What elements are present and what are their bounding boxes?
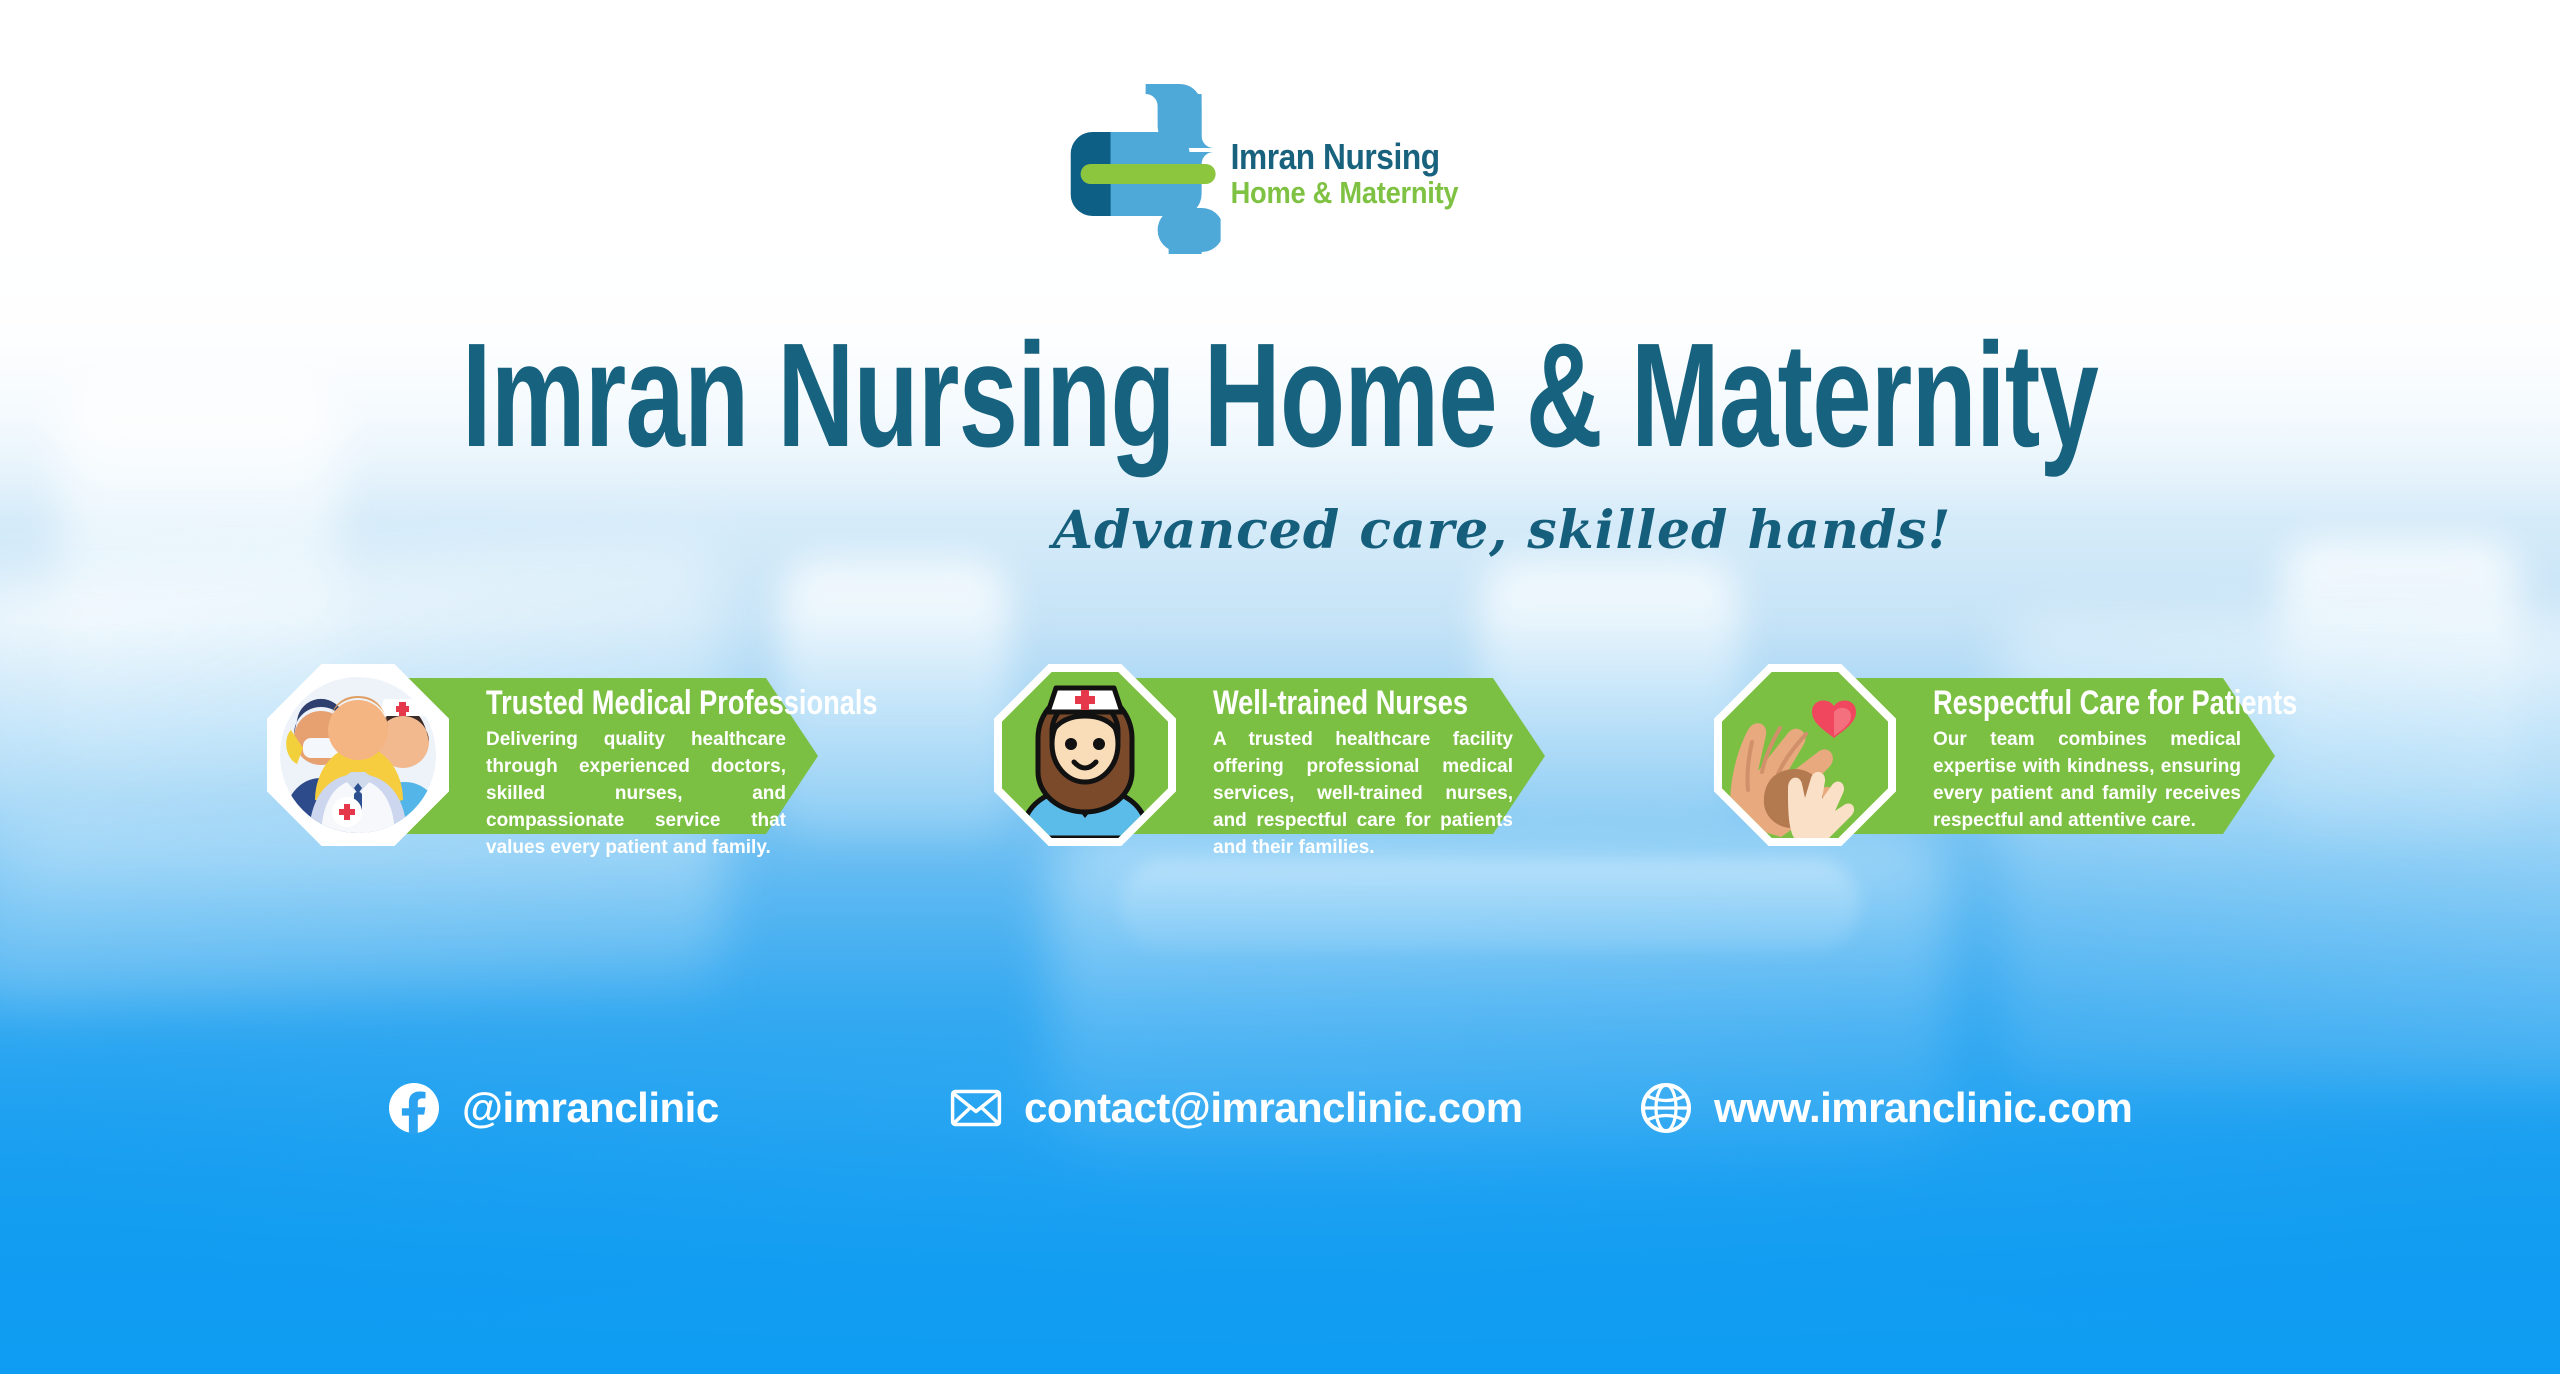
feature-badge[interactable]: Respectful Care for Patients Our team co… [1705, 660, 2275, 850]
page-title-text: Imran Nursing Home & Maternity [462, 322, 2098, 470]
contact-website-label: www.imranclinic.com [1714, 1084, 2132, 1132]
feature-badge-text: Trusted Medical Professionals Delivering… [486, 686, 786, 862]
feature-badge-description: Our team combines medical expertise with… [1933, 727, 2241, 835]
contact-email[interactable]: contact@imranclinic.com [950, 1082, 1523, 1134]
globe-icon[interactable] [1640, 1082, 1692, 1134]
facebook-icon[interactable] [388, 1082, 440, 1134]
contact-facebook-label: @imranclinic [462, 1084, 719, 1132]
feature-badge[interactable]: Trusted Medical Professionals Delivering… [258, 660, 818, 850]
feature-badge[interactable]: Well-trained Nurses A trusted healthcare… [985, 660, 1545, 850]
healthcare-banner: Imran Nursing Home & Maternity Imran Nur… [0, 0, 2560, 1374]
contact-bar: @imranclinic contact@imranclinic.com www… [0, 1082, 2560, 1172]
feature-badge-text: Respectful Care for Patients Our team co… [1933, 686, 2241, 835]
nurse-icon [1002, 672, 1168, 838]
caring-hands-heart-icon [1722, 672, 1888, 838]
logo-line-primary: Imran Nursing [1231, 140, 1459, 175]
contact-website[interactable]: www.imranclinic.com [1640, 1082, 2132, 1134]
contact-facebook[interactable]: @imranclinic [388, 1082, 719, 1134]
feature-badge-icon-frame [1705, 660, 1905, 850]
logo-text: Imran Nursing Home & Maternity [1231, 140, 1490, 208]
contact-email-label: contact@imranclinic.com [1024, 1084, 1523, 1132]
logo: Imran Nursing Home & Maternity [1071, 80, 1490, 268]
feature-badges: Trusted Medical Professionals Delivering… [0, 660, 2560, 860]
medical-cross-logo-icon [1071, 80, 1221, 268]
feature-badge-title: Trusted Medical Professionals [486, 686, 786, 722]
logo-line-secondary: Home & Maternity [1231, 178, 1459, 208]
feature-badge-icon-frame [258, 660, 458, 850]
page-title: Imran Nursing Home & Maternity [144, 322, 2417, 470]
feature-badge-title: Respectful Care for Patients [1933, 686, 2241, 722]
feature-badge-description: Delivering quality healthcare through ex… [486, 727, 786, 862]
feature-badge-title: Well-trained Nurses [1213, 686, 1513, 722]
feature-badge-text: Well-trained Nurses A trusted healthcare… [1213, 686, 1513, 862]
tagline: Advanced care, skilled hands! [1053, 500, 1952, 561]
medical-team-icon [275, 672, 441, 838]
feature-badge-description: A trusted healthcare facility offering p… [1213, 727, 1513, 862]
feature-badge-icon-frame [985, 660, 1185, 850]
email-envelope-icon[interactable] [950, 1082, 1002, 1134]
